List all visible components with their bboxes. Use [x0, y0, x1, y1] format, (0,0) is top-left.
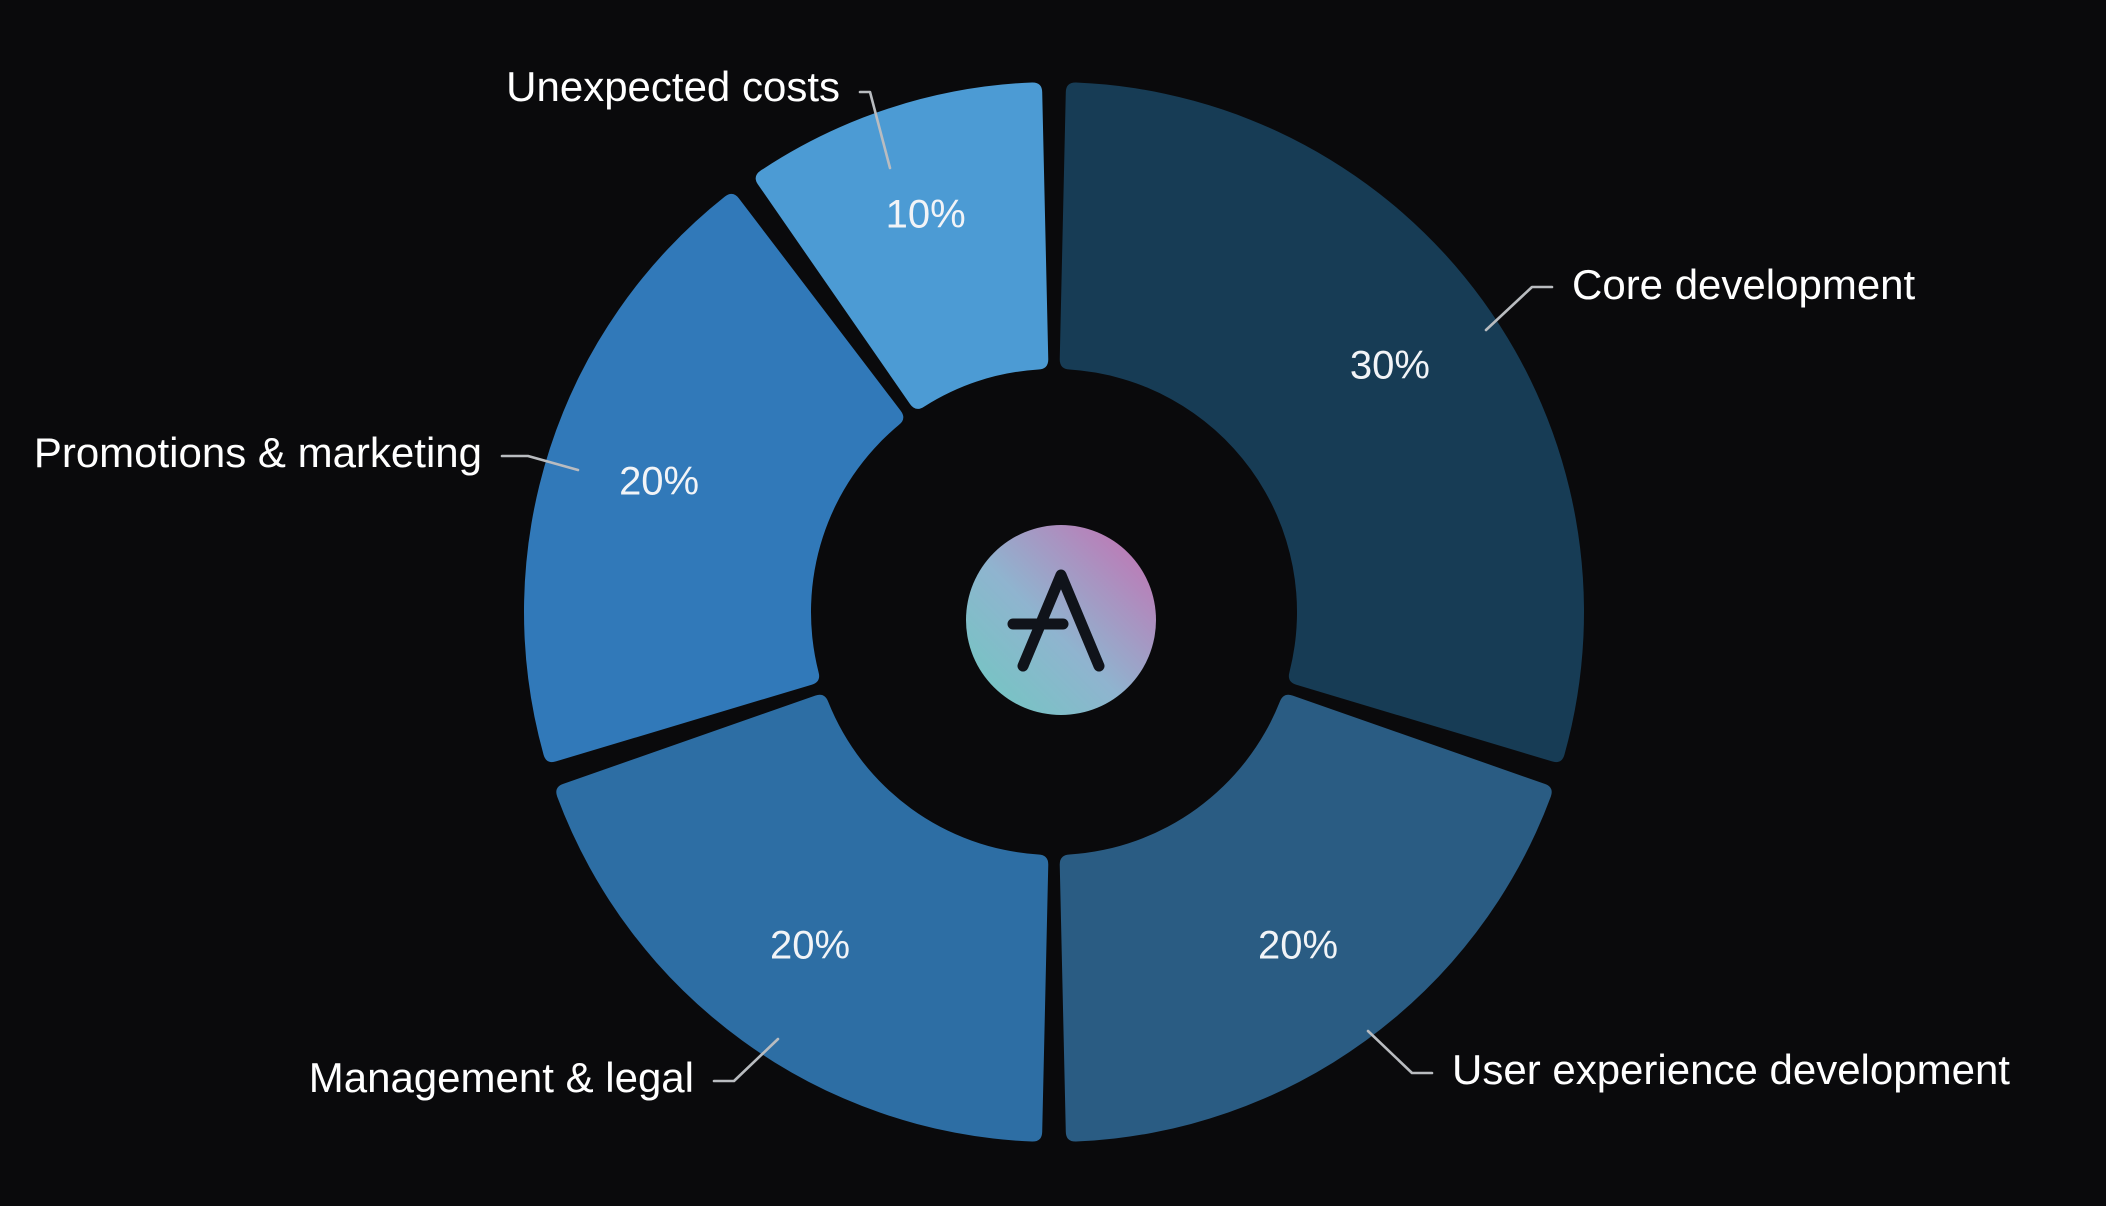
donut-chart-container: 30%20%20%20%10% Core developmentUser exp…	[0, 0, 2106, 1206]
slice-category-label: User experience development	[1452, 1046, 2010, 1093]
slice-category-label: Core development	[1572, 261, 1916, 308]
slice-value-label: 10%	[886, 193, 966, 237]
aave-logo	[966, 525, 1156, 715]
slice-value-label: 20%	[619, 459, 699, 503]
slice-value-label: 30%	[1350, 344, 1430, 388]
slice-category-label: Unexpected costs	[506, 63, 840, 110]
slice-category-label: Management & legal	[309, 1054, 694, 1101]
slice-value-label: 20%	[770, 923, 850, 967]
slice-category-label: Promotions & marketing	[34, 429, 482, 476]
donut-chart-svg: 30%20%20%20%10% Core developmentUser exp…	[0, 0, 2106, 1206]
slice-value-label: 20%	[1258, 923, 1338, 967]
